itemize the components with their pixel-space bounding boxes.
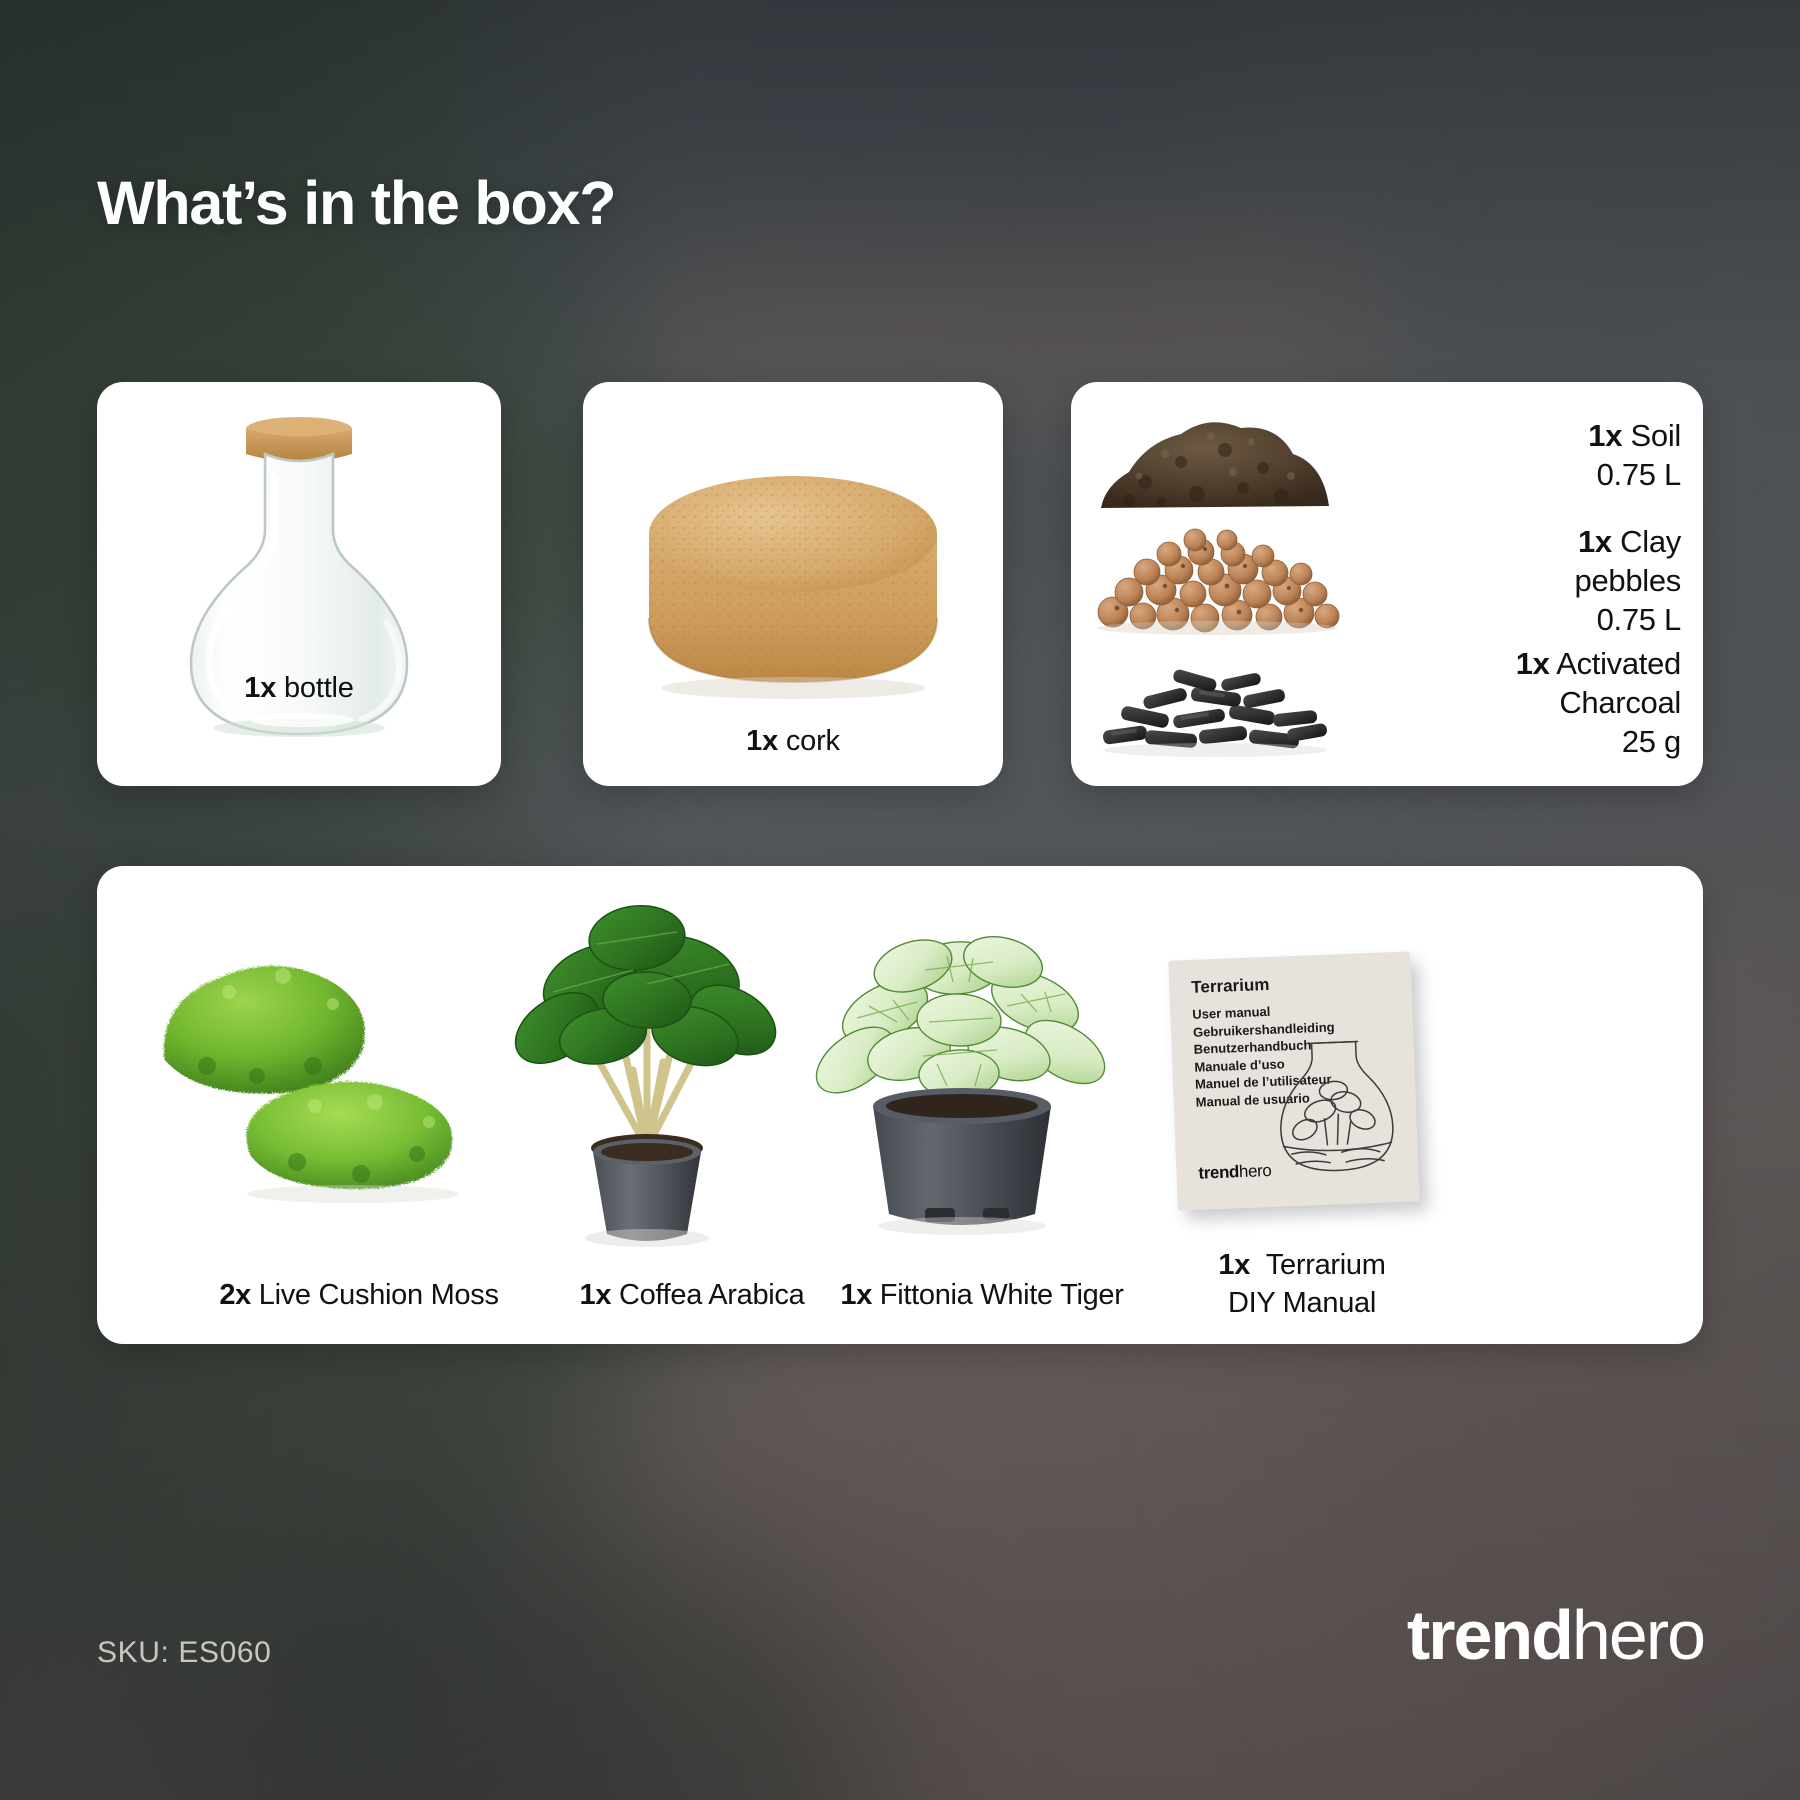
substrate-row-soil: 1x Soil 0.75 L [1381, 416, 1681, 494]
manual-name: Terrarium [1266, 1249, 1386, 1281]
coffea-qty: 1x [580, 1279, 612, 1311]
card-bottle: 1x bottle [97, 382, 501, 786]
cushion-moss-icon [137, 926, 517, 1226]
soil-pile-icon [1085, 402, 1345, 520]
manual-brand-bold: trend [1198, 1162, 1239, 1183]
charcoal-qty: 1x [1516, 646, 1550, 681]
fittonia-qty: 1x [840, 1279, 872, 1311]
bottle-name: bottle [284, 672, 354, 704]
plant-caption-fittonia: 1x Fittonia White Tiger [787, 1276, 1177, 1314]
soil-qty: 1x [1588, 418, 1622, 453]
card-plants: Terrarium User manual Gebruikershandleid… [97, 866, 1703, 1344]
fittonia-white-tiger-plant-icon [797, 896, 1127, 1256]
clay-amount: 0.75 L [1575, 600, 1682, 639]
plant-caption-moss: 2x Live Cushion Moss [159, 1276, 559, 1314]
substrate-row-activated-charcoal: 1x Activated Charcoal 25 g [1351, 644, 1681, 761]
cork-label: 1x cork [746, 725, 840, 758]
page-title: What’s in the box? [97, 168, 615, 238]
glass-bottle-icon [97, 382, 501, 786]
charcoal-name-wrap: Charcoal [1516, 683, 1681, 722]
brand-logo-light: hero [1572, 1596, 1704, 1674]
sku-label: SKU: ES060 [97, 1636, 271, 1670]
brand-logo-bold: trend [1407, 1596, 1572, 1674]
clay-name-wrap: pebbles [1575, 561, 1682, 600]
moss-qty: 2x [219, 1279, 251, 1311]
substrate-clay-text: 1x Clay pebbles 0.75 L [1575, 522, 1682, 639]
cork-qty: 1x [746, 725, 778, 757]
soil-amount: 0.75 L [1588, 455, 1681, 494]
clay-pebbles-icon [1077, 524, 1357, 636]
manual-qty: 1x [1218, 1249, 1250, 1281]
manual-brand-light: hero [1239, 1161, 1272, 1181]
substrate-charcoal-text: 1x Activated Charcoal 25 g [1516, 644, 1681, 761]
cork-name: cork [786, 725, 840, 757]
plant-caption-manual: 1x Terrarium DIY Manual [1137, 1246, 1467, 1322]
manual-terrarium-line-art-icon [1265, 1034, 1413, 1199]
soil-name: Soil [1631, 418, 1682, 453]
coffea-name: Coffea Arabica [619, 1279, 805, 1311]
manual-heading: Terrarium [1191, 975, 1270, 998]
manual-name-line2: DIY Manual [1137, 1284, 1467, 1322]
clay-name-part: Clay [1620, 524, 1681, 559]
charcoal-name-part: Activated [1556, 646, 1681, 681]
card-substrates: 1x Soil 0.75 L [1071, 382, 1703, 786]
fittonia-name: Fittonia White Tiger [880, 1279, 1124, 1311]
manual-brand-logo: trendhero [1198, 1161, 1272, 1184]
moss-name: Live Cushion Moss [259, 1279, 499, 1311]
card-cork: 1x cork [583, 382, 1003, 786]
bottle-label: 1x bottle [244, 672, 353, 705]
substrate-row-clay-pebbles: 1x Clay pebbles 0.75 L [1381, 522, 1681, 639]
charcoal-amount: 25 g [1516, 722, 1681, 761]
substrate-soil-text: 1x Soil 0.75 L [1588, 416, 1681, 494]
manual-booklet-icon: Terrarium User manual Gebruikershandleid… [1168, 951, 1419, 1210]
coffea-arabica-plant-icon [497, 886, 797, 1256]
bottle-qty: 1x [244, 672, 276, 704]
activated-charcoal-icon [1081, 654, 1351, 764]
brand-logo: trendhero [1407, 1600, 1704, 1670]
clay-qty: 1x [1578, 524, 1612, 559]
